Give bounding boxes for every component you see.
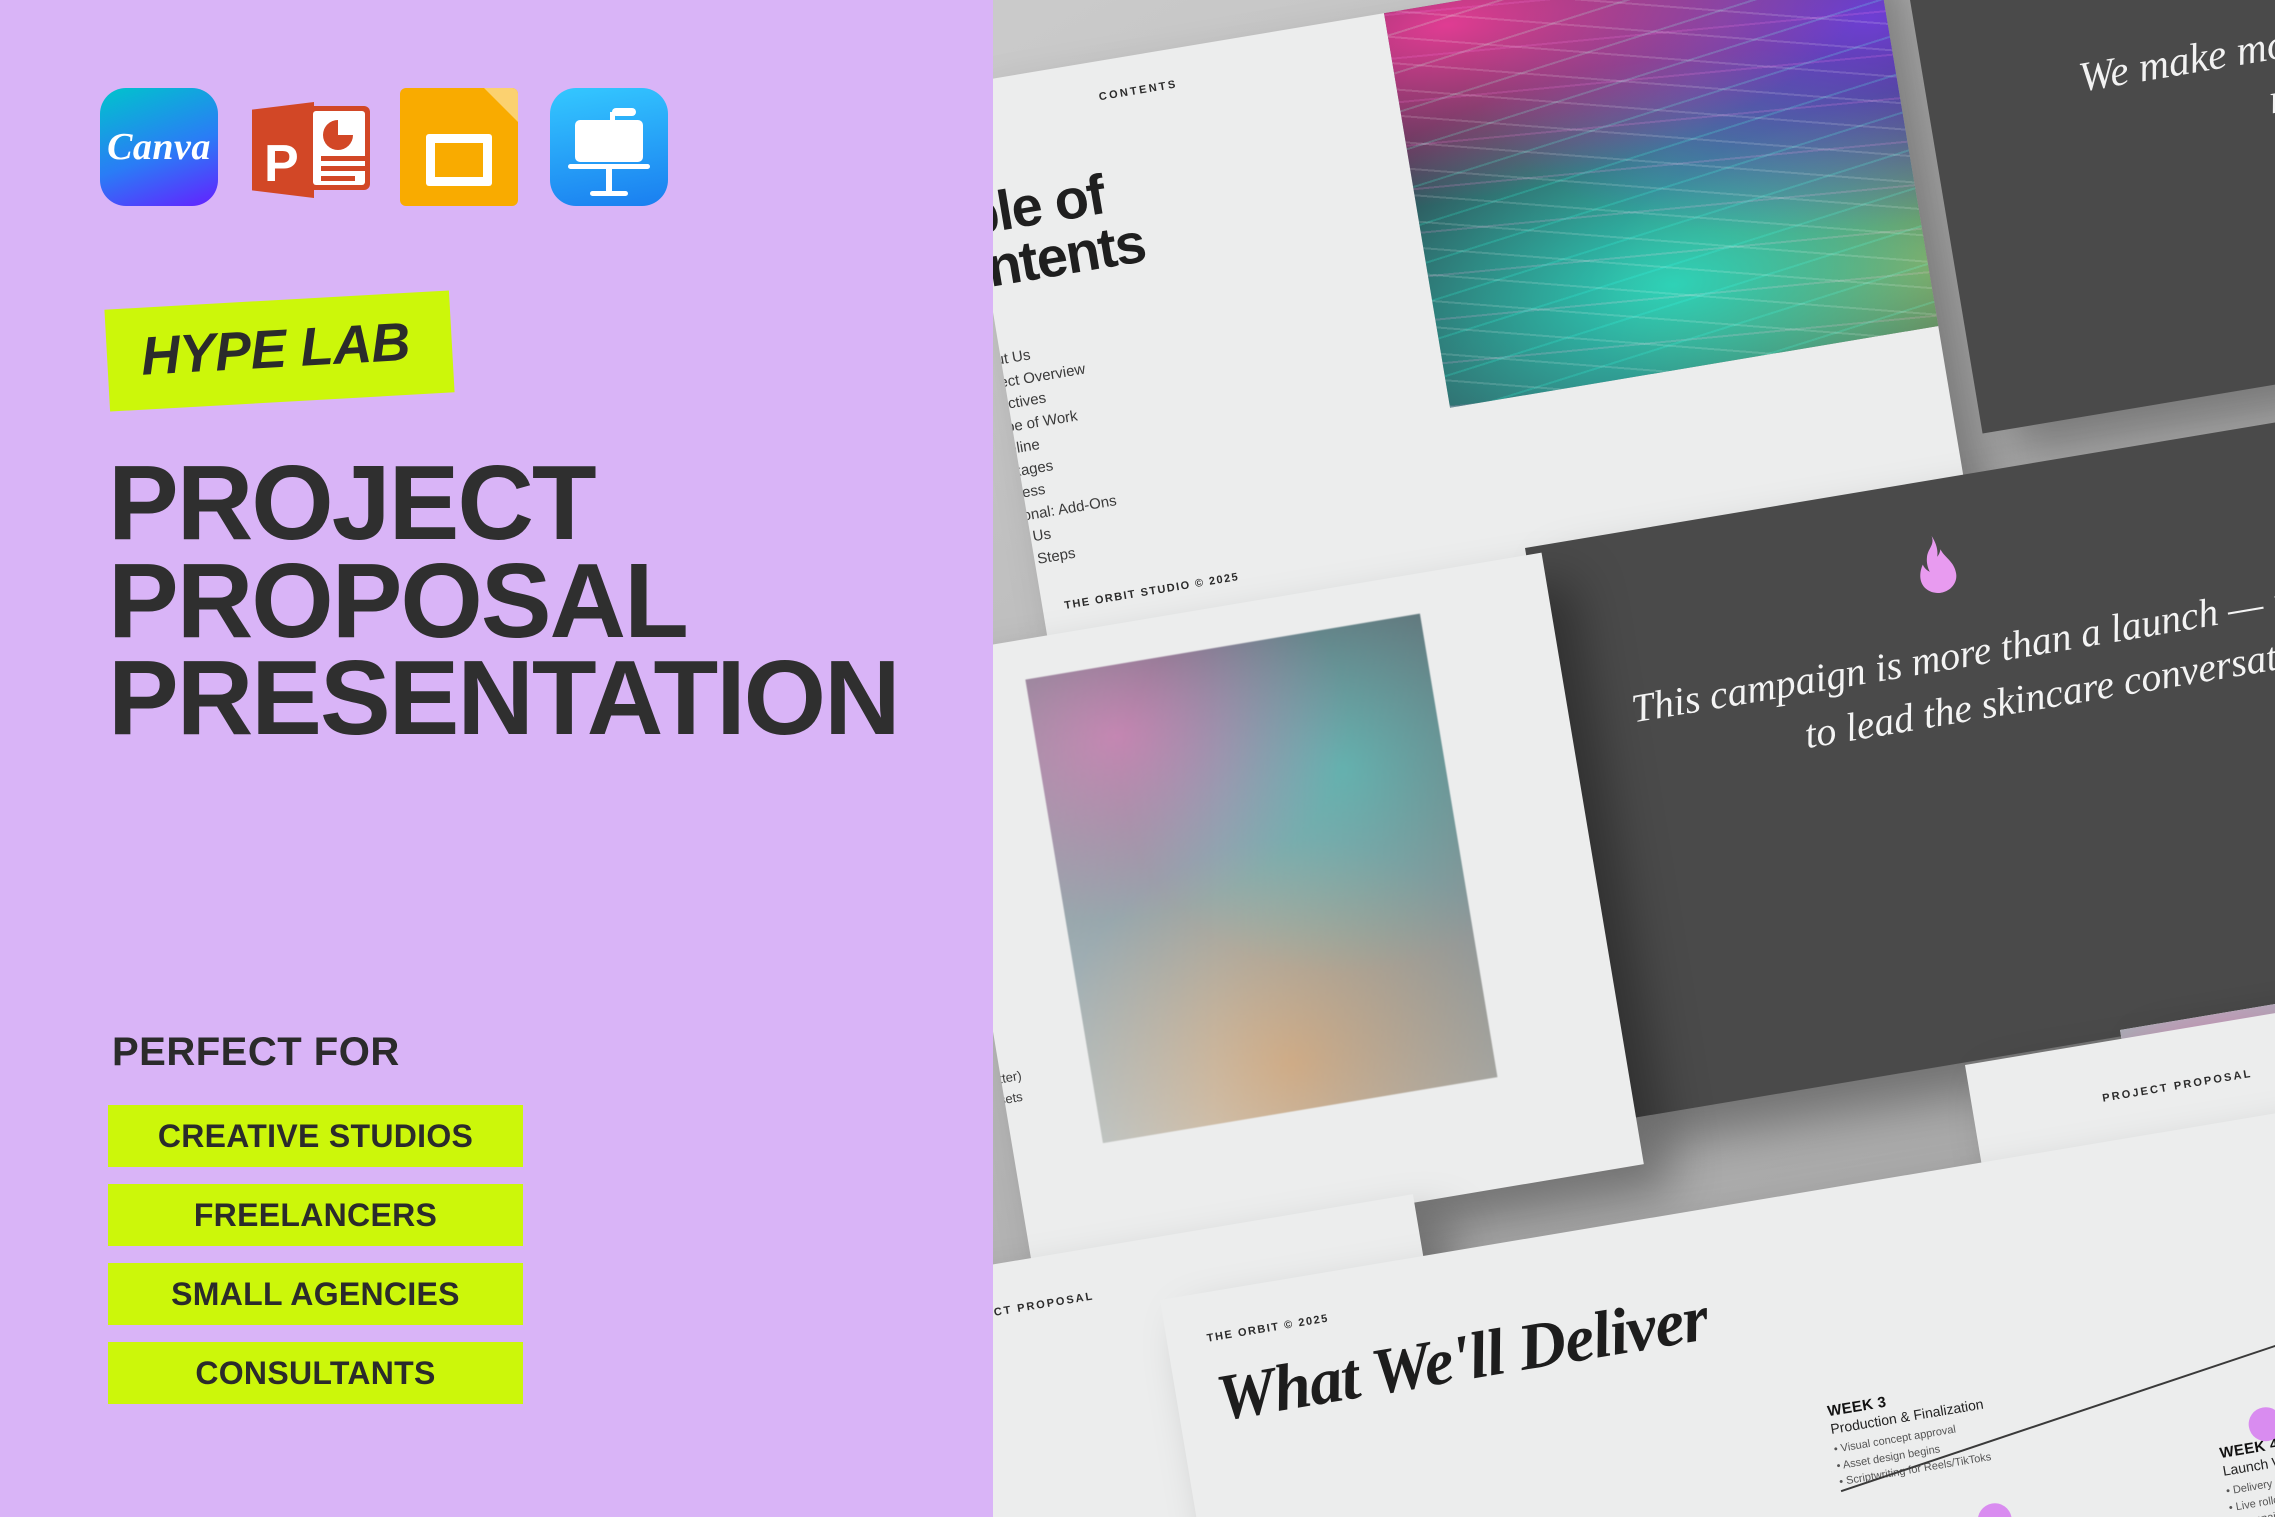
perfect-for-item-consultants: CONSULTANTS — [108, 1342, 523, 1404]
page-fold — [484, 88, 518, 122]
perfect-for-item-creative-studios: CREATIVE STUDIOS — [108, 1105, 523, 1167]
keynote-lamp — [612, 108, 636, 116]
deliver-footer: THE ORBIT © 2025 — [1206, 1312, 1330, 1344]
app-icon-row: Canva P — [100, 88, 668, 206]
powerpoint-letter: P — [264, 138, 299, 190]
toc-item-label: Why Us — [998, 525, 1053, 550]
toc-neon-photo — [1381, 0, 1965, 408]
powerpoint-icon[interactable]: P — [250, 88, 368, 206]
toc-item-label: Process — [990, 481, 1046, 507]
perfect-for-heading: PERFECT FOR — [112, 1030, 400, 1075]
timeline-dot — [2246, 1405, 2275, 1444]
brand-badge-label: HYPE LAB — [139, 312, 411, 387]
dark-headline-text: We make more noise and more meaning — [2012, 0, 2275, 168]
powerpoint-line — [321, 156, 365, 161]
proposal-right-label: PROJECT PROPOSAL — [2101, 1068, 2253, 1105]
pie-chart-icon — [323, 120, 353, 150]
keynote-feet — [590, 191, 628, 196]
powerpoint-card — [308, 106, 370, 190]
toc-item-label: Next Steps — [1001, 544, 1076, 573]
slide-dark-headline[interactable]: We make more noise and more meaning — [1905, 0, 2275, 434]
timeline-dot — [1975, 1501, 2014, 1517]
slide-objectives-photo[interactable]: Objectives Build content strategy Define… — [930, 553, 1644, 1267]
keynote-board — [575, 120, 643, 162]
page-title-line-2: PROPOSAL — [108, 553, 968, 651]
keynote-icon[interactable] — [550, 88, 668, 206]
perfect-for-item-freelancers: FREELANCERS — [108, 1184, 523, 1246]
flame-icon — [1909, 532, 1964, 597]
slide-frame — [426, 134, 492, 186]
canva-wordmark: Canva — [107, 125, 211, 169]
page-title: PROJECT PROPOSAL PRESENTATION — [108, 455, 968, 748]
mockup-canvas: CONTENTS Table of Contents 01About Us 02… — [0, 0, 2275, 1517]
deliver-title: What We'll Deliver — [1211, 1280, 1713, 1437]
page-title-line-3: PRESENTATION — [108, 650, 968, 748]
canva-icon[interactable]: Canva — [100, 88, 218, 206]
powerpoint-line — [321, 176, 355, 181]
perfect-for-item-small-agencies: SMALL AGENCIES — [108, 1263, 523, 1325]
google-slides-icon[interactable] — [400, 88, 518, 206]
left-info-panel: Canva P — [0, 0, 993, 1517]
perfect-for-list: CREATIVE STUDIOS FREELANCERS SMALL AGENC… — [108, 1105, 523, 1421]
toc-kicker: CONTENTS — [1098, 78, 1179, 103]
powerpoint-card-inner — [313, 111, 365, 185]
powerpoint-line — [321, 166, 365, 171]
brand-badge: HYPE LAB — [104, 290, 454, 411]
deliver-week-3: WEEK 3 Production & Finalization Visual … — [1826, 1378, 1993, 1491]
page-title-line-1: PROJECT — [108, 455, 968, 553]
toc-footer: THE ORBIT STUDIO © 2025 — [1064, 571, 1241, 612]
